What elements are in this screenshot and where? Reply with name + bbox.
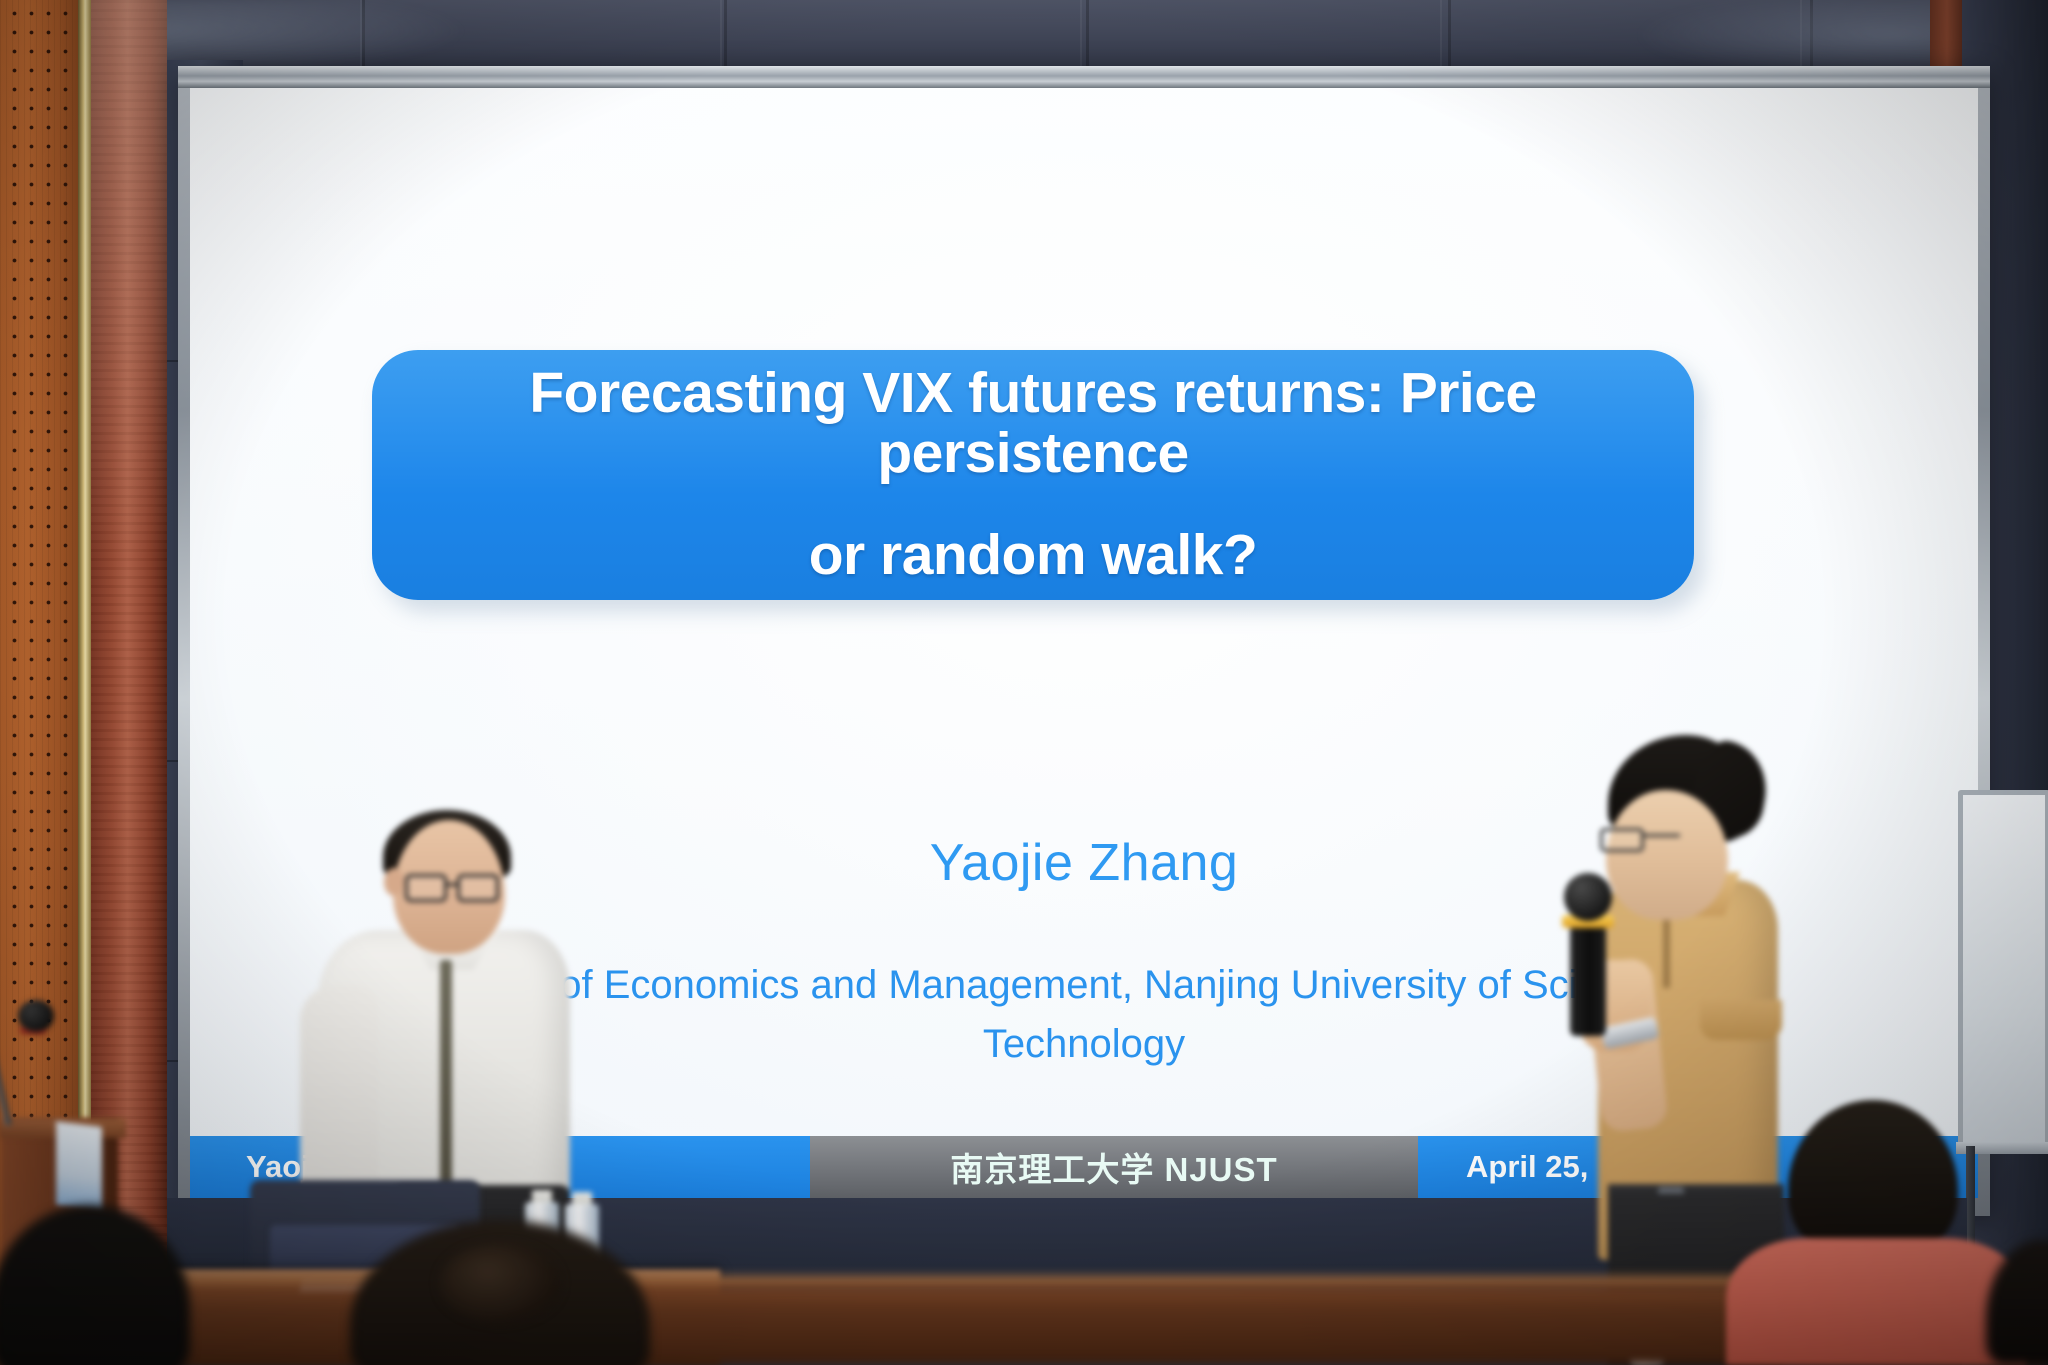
wood-column-glare [91, 0, 167, 560]
person-right-head [1606, 790, 1728, 920]
person-left-ear [384, 868, 404, 896]
microphone-body [1570, 924, 1606, 1036]
microphone-icon [1564, 873, 1612, 921]
flipchart-whiteboard [1952, 790, 2048, 1260]
slide-title-line-2: or random walk? [809, 526, 1258, 586]
slide-title-banner: Forecasting VIX futures returns: Price p… [372, 350, 1694, 600]
slide-title-line-1: Forecasting VIX futures returns: Price p… [372, 364, 1694, 484]
person-right-glasses-icon [1600, 828, 1680, 852]
slide-footer-institution: 南京理工大学 NJUST [810, 1136, 1418, 1198]
gooseneck-microphone-icon [18, 1000, 54, 1032]
lectern-monitor [56, 1121, 102, 1211]
projection-screen-frame-top [178, 66, 1990, 88]
presentation-photo-scene: Forecasting VIX futures returns: Price p… [0, 0, 2048, 1365]
whiteboard-surface [1958, 790, 2048, 1148]
person-left-glasses-icon [405, 874, 501, 902]
audience-right-shirt [1726, 1238, 2026, 1365]
person-right-sleeve [1700, 1000, 1782, 1040]
audience-front-center-bun [440, 1244, 560, 1322]
